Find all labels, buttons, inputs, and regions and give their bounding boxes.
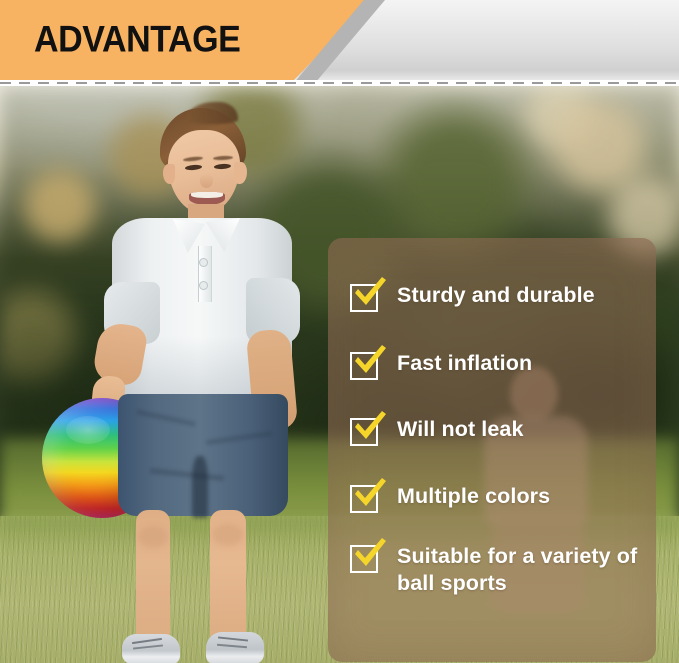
boy-ear-right [234, 162, 247, 184]
boy-ear-left [163, 164, 175, 184]
feature-label: Suitable for a variety of ball sports [397, 543, 647, 597]
ball-highlight [66, 416, 110, 444]
feature-label: Fast inflation [397, 350, 532, 377]
check-mark-icon [349, 407, 389, 447]
checkbox-checked-icon [350, 545, 378, 573]
boy-knee-right [212, 524, 244, 546]
feature-item: Suitable for a variety of ball sports [350, 543, 647, 597]
boy-shoe-right [206, 632, 264, 663]
boy-knee-left [138, 526, 168, 548]
boy-nose [200, 174, 213, 188]
checkbox-checked-icon [350, 352, 378, 380]
feature-item: Fast inflation [350, 350, 532, 380]
page-title-text: ADVANTAGE [34, 19, 240, 61]
polo-button-top [200, 259, 207, 266]
checkbox-checked-icon [350, 485, 378, 513]
product-advantage-banner: ADVANTAGE [0, 0, 679, 663]
feature-label: Sturdy and durable [397, 282, 595, 309]
polo-button-bottom [200, 282, 207, 289]
polo-placket [198, 246, 212, 302]
feature-item: Will not leak [350, 416, 524, 446]
shorts-inseam [192, 456, 208, 518]
product-lifestyle-photo: Sturdy and durable Fast inflation [0, 86, 679, 663]
page-title: ADVANTAGE [34, 19, 258, 61]
check-mark-icon [349, 474, 389, 514]
check-mark-icon [349, 273, 389, 313]
check-mark-icon [349, 534, 389, 574]
boy-teeth [191, 192, 223, 198]
boy-hair-tuft [186, 102, 238, 124]
feature-label: Multiple colors [397, 483, 550, 510]
feature-list: Sturdy and durable Fast inflation [328, 238, 656, 662]
feature-panel: Sturdy and durable Fast inflation [328, 238, 656, 662]
checkbox-checked-icon [350, 418, 378, 446]
header-banner: ADVANTAGE [0, 0, 679, 80]
checkbox-checked-icon [350, 284, 378, 312]
feature-label: Will not leak [397, 416, 524, 443]
check-mark-icon [349, 341, 389, 381]
feature-item: Sturdy and durable [350, 282, 595, 312]
feature-item: Multiple colors [350, 483, 550, 513]
